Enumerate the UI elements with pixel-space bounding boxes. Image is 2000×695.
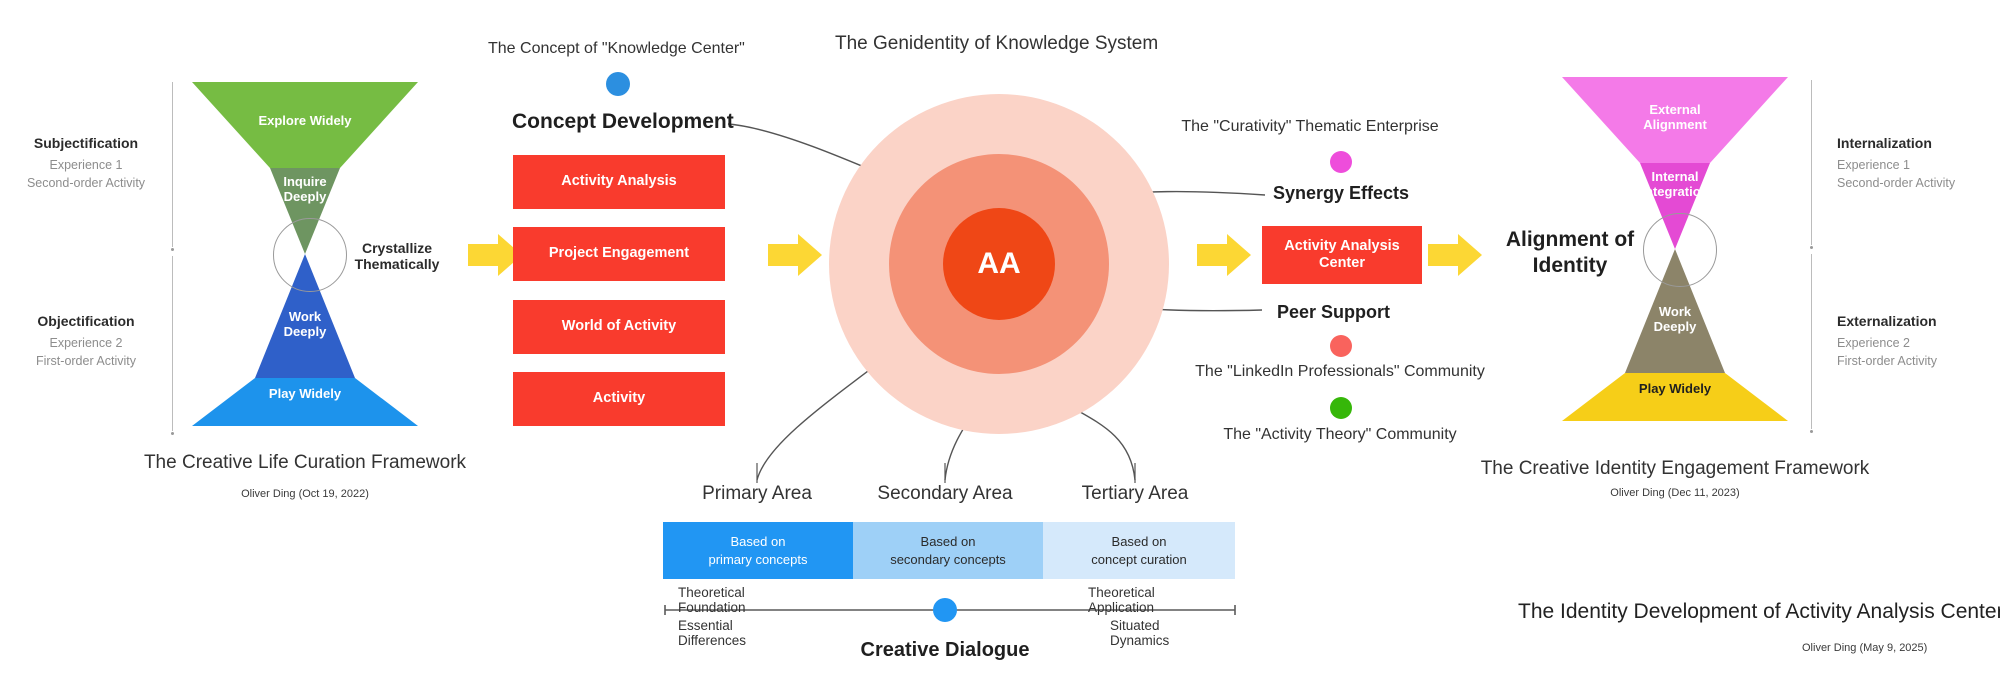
activity-theory-dot-icon (1330, 397, 1352, 419)
tertiary-area-text: Tertiary Area (1035, 483, 1235, 505)
creative-dialogue-caption: Creative Dialogue (795, 639, 1095, 662)
synergy-effects-label: Synergy Effects (1273, 183, 1409, 204)
secondary-area-text: Secondary Area (845, 483, 1045, 505)
right-framework-credit-text: Oliver Ding (Dec 11, 2023) (1445, 487, 1905, 499)
concept-box-label-0: Activity Analysis (561, 173, 677, 190)
curativity-label: The "Curativity" Thematic Enterprise (1155, 118, 1465, 136)
axis-top-right-label: Theoretical Application (1088, 585, 1155, 615)
footer-credit-text: Oliver Ding (May 9, 2025) (1802, 642, 1927, 654)
right-bracket-dot (1810, 246, 1813, 249)
right-upper-line1: Experience 1 (1837, 158, 1955, 172)
band-secondary[interactable]: Based on secondary concepts (853, 522, 1043, 579)
right-upper-head: Internalization (1837, 135, 1955, 151)
left-framework-title: The Creative Life Curation Framework (75, 452, 535, 474)
right-upper-bracket (1811, 80, 1812, 245)
axis-bottom-right-label: Situated Dynamics (1110, 618, 1169, 648)
left-objectification-group: Objectification Experience 2 First-order… (10, 313, 162, 368)
genidentity-title-text: The Genidentity of Knowledge System (835, 33, 1158, 55)
concept-box-world-of-activity[interactable]: World of Activity (513, 300, 725, 354)
knowledge-center-dot-icon (606, 72, 630, 96)
right-lower-bracket (1811, 254, 1812, 429)
axis-top-right-text: Theoretical Application (1088, 585, 1155, 615)
band-primary-line1: Based on (731, 534, 786, 549)
activity-theory-community-text: The "Activity Theory" Community (1190, 426, 1490, 444)
left-lower-line2: First-order Activity (10, 354, 162, 368)
crystallize-line2: Thematically (338, 256, 456, 272)
footer-title-text: The Identity Development of Activity Ana… (1518, 600, 2000, 624)
creative-dialogue-text: Creative Dialogue (795, 639, 1095, 662)
band-tertiary[interactable]: Based on concept curation (1043, 522, 1235, 579)
right-externalization-group: Externalization Experience 2 First-order… (1837, 313, 1937, 368)
right-framework-title: The Creative Identity Engagement Framewo… (1445, 458, 1905, 480)
activity-analysis-center-label: Activity Analysis Center (1262, 238, 1422, 273)
left-bracket-end-dot (171, 432, 174, 435)
left-upper-line1: Experience 1 (10, 158, 162, 172)
left-framework-title-text: The Creative Life Curation Framework (75, 452, 535, 474)
left-upper-head: Subjectification (10, 135, 162, 151)
genidentity-title: The Genidentity of Knowledge System (835, 33, 1158, 55)
right-hourglass-pivot-circle (1643, 213, 1717, 287)
left-framework-credit-text: Oliver Ding (Oct 19, 2022) (75, 488, 535, 500)
axis-bottom-left-text: Essential Differences (678, 618, 746, 648)
band-secondary-line2: secondary concepts (890, 552, 1006, 567)
knowledge-center-label-text: The Concept of "Knowledge Center" (488, 40, 745, 58)
band-primary[interactable]: Based on primary concepts (663, 522, 853, 579)
curativity-dot-icon (1330, 151, 1352, 173)
primary-area-label: Primary Area (657, 483, 857, 505)
left-lower-line1: Experience 2 (10, 336, 162, 350)
peer-support-label: Peer Support (1277, 302, 1390, 323)
core-circle-label: AA (977, 247, 1020, 281)
right-lower-head: Externalization (1837, 313, 1937, 329)
right-internalization-group: Internalization Experience 1 Second-orde… (1837, 135, 1955, 190)
left-bracket-dot (171, 248, 174, 251)
right-bracket-end-dot (1810, 430, 1813, 433)
band-tertiary-line1: Based on (1112, 534, 1167, 549)
slider-handle[interactable] (933, 598, 957, 622)
knowledge-center-label: The Concept of "Knowledge Center" (488, 40, 745, 58)
concept-development-heading-text: Concept Development (512, 110, 734, 134)
right-lower-line1: Experience 2 (1837, 336, 1937, 350)
footer-title: The Identity Development of Activity Ana… (1518, 600, 2000, 624)
linkedin-community-label: The "LinkedIn Professionals" Community (1175, 363, 1505, 381)
core-circle[interactable]: AA (943, 208, 1055, 320)
right-lower-line2: First-order Activity (1837, 354, 1937, 368)
band-secondary-line1: Based on (921, 534, 976, 549)
left-upper-line2: Second-order Activity (10, 176, 162, 190)
left-framework-credit: Oliver Ding (Oct 19, 2022) (75, 488, 535, 500)
tertiary-area-label: Tertiary Area (1035, 483, 1235, 505)
right-framework-title-text: The Creative Identity Engagement Framewo… (1445, 458, 1905, 480)
concept-box-label-1: Project Engagement (549, 245, 689, 262)
left-lower-bracket (172, 256, 173, 431)
concept-box-activity-analysis[interactable]: Activity Analysis (513, 155, 725, 209)
left-subjectification-group: Subjectification Experience 1 Second-ord… (10, 135, 162, 190)
activity-analysis-center-box[interactable]: Activity Analysis Center (1262, 226, 1422, 284)
left-lower-head: Objectification (10, 313, 162, 329)
band-tertiary-line2: concept curation (1091, 552, 1186, 567)
concept-box-project-engagement[interactable]: Project Engagement (513, 227, 725, 281)
axis-bottom-left-label: Essential Differences (678, 618, 746, 648)
axis-top-left-text: Theoretical Foundation (678, 585, 746, 615)
crystallize-line1: Crystallize (338, 240, 456, 256)
concept-box-label-3: Activity (593, 390, 645, 407)
left-hourglass-pivot-circle (273, 218, 347, 292)
axis-top-left-label: Theoretical Foundation (678, 585, 746, 615)
synergy-effects-text: Synergy Effects (1273, 183, 1409, 204)
concept-box-label-2: World of Activity (562, 318, 676, 335)
primary-area-text: Primary Area (657, 483, 857, 505)
right-upper-line2: Second-order Activity (1837, 176, 1955, 190)
footer-credit: Oliver Ding (May 9, 2025) (1802, 642, 1927, 654)
left-upper-bracket (172, 82, 173, 247)
band-primary-line2: primary concepts (709, 552, 808, 567)
activity-theory-community-label: The "Activity Theory" Community (1190, 426, 1490, 444)
crystallize-label: Crystallize Thematically (338, 240, 456, 272)
axis-bottom-right-text: Situated Dynamics (1110, 618, 1169, 648)
concept-box-activity[interactable]: Activity (513, 372, 725, 426)
concept-development-heading: Concept Development (512, 110, 734, 134)
secondary-area-label: Secondary Area (845, 483, 1045, 505)
right-framework-credit: Oliver Ding (Dec 11, 2023) (1445, 487, 1905, 499)
linkedin-dot-icon (1330, 335, 1352, 357)
curativity-label-text: The "Curativity" Thematic Enterprise (1155, 118, 1465, 136)
peer-support-text: Peer Support (1277, 302, 1390, 323)
linkedin-community-text: The "LinkedIn Professionals" Community (1175, 363, 1505, 381)
